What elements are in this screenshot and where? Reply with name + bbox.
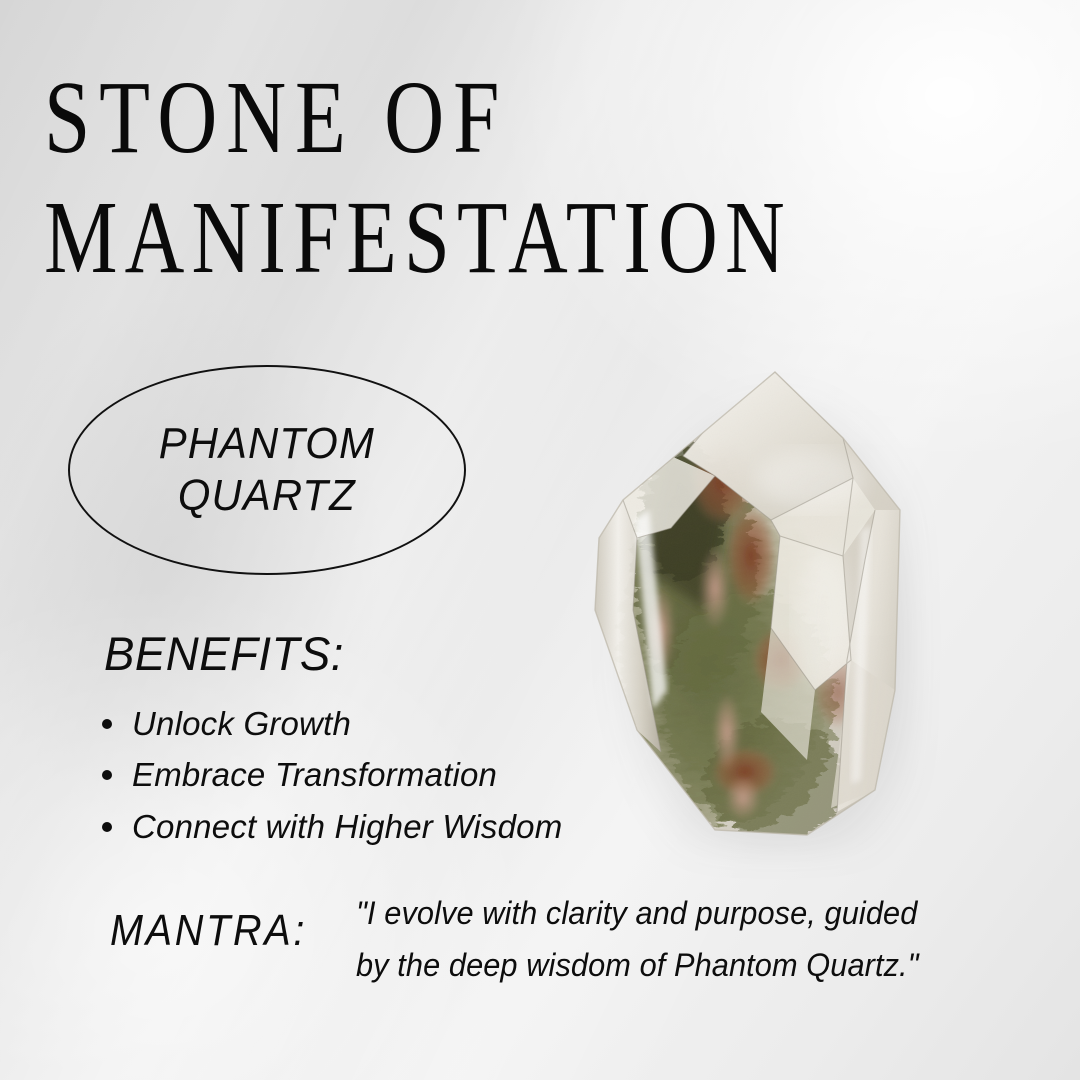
mantra-label: MANTRA:: [110, 906, 307, 956]
benefits-list: Unlock Growth Embrace Transformation Con…: [96, 698, 656, 852]
phantom-quartz-illustration: [575, 360, 925, 860]
badge-line-2: QUARTZ: [178, 471, 356, 520]
crystal-image: [575, 360, 925, 860]
mantra-quote: "I evolve with clarity and purpose, guid…: [356, 888, 932, 992]
title-line-1: STONE OF: [44, 62, 844, 174]
list-item: Unlock Growth: [96, 698, 656, 749]
list-item: Embrace Transformation: [96, 749, 656, 800]
stone-name-badge-text: PHANTOM QUARTZ: [159, 418, 375, 522]
badge-line-1: PHANTOM: [159, 419, 375, 468]
stone-name-badge: PHANTOM QUARTZ: [68, 365, 466, 575]
poster-canvas: STONE OF MANIFESTATION PHANTOM QUARTZ BE…: [0, 0, 1080, 1080]
page-title: STONE OF MANIFESTATION: [44, 62, 1044, 295]
title-line-2: MANIFESTATION: [44, 182, 839, 294]
benefits-heading: BENEFITS:: [104, 626, 344, 681]
list-item: Connect with Higher Wisdom: [96, 801, 656, 852]
